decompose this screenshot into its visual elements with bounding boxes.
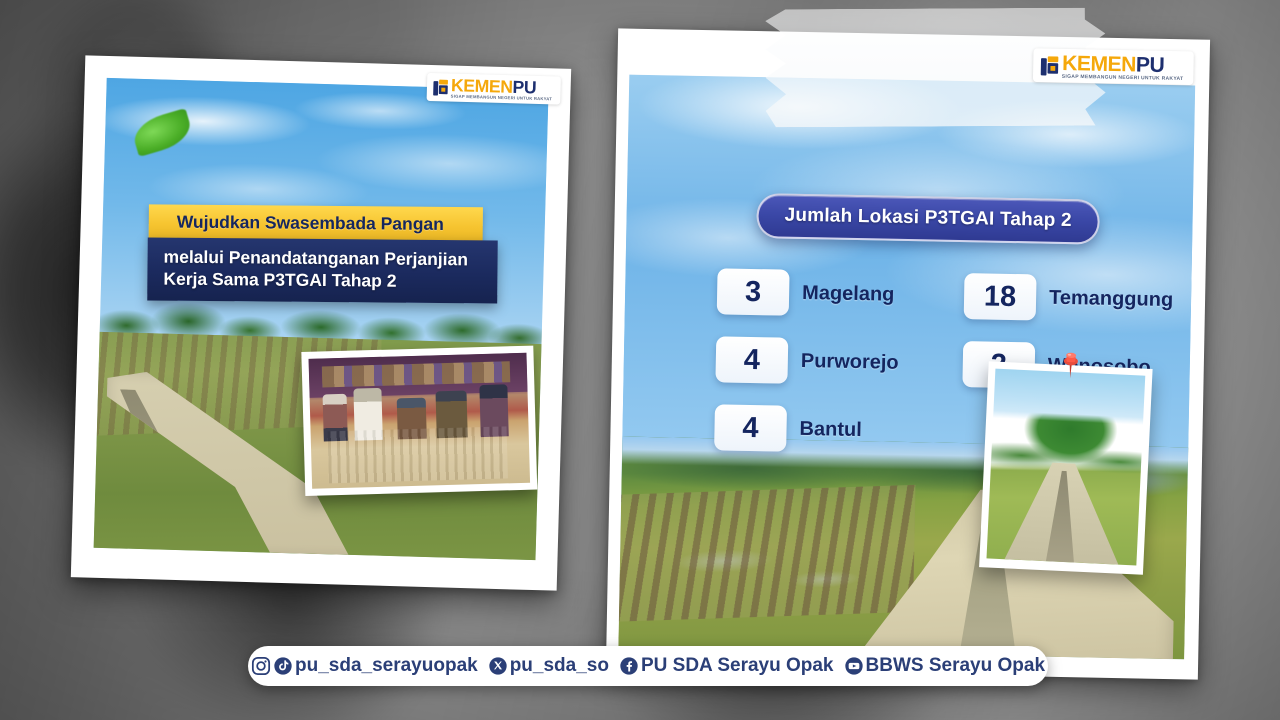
pinned-photo-card bbox=[979, 361, 1153, 574]
stat-value: 4 bbox=[714, 404, 787, 451]
stat-label: Magelang bbox=[802, 281, 895, 306]
headline-navy-line2: Kerja Sama P3TGAI Tahap 2 bbox=[163, 268, 481, 293]
right-card-artwork: Jumlah Lokasi P3TGAI Tahap 2 3 Magelang … bbox=[618, 75, 1195, 660]
social-handle[interactable]: PU SDA Serayu Opak bbox=[641, 655, 834, 677]
social-item-x[interactable]: pu_sda_so bbox=[483, 655, 614, 677]
social-handle[interactable]: pu_sda_serayuopak bbox=[295, 655, 478, 677]
social-item-instagram-tiktok[interactable]: pu_sda_serayuopak bbox=[246, 655, 483, 677]
stat-label: Purworejo bbox=[801, 349, 899, 374]
headline-navy-banner: melalui Penandatanganan Perjanjian Kerja… bbox=[147, 237, 498, 303]
poster-canvas: Jumlah Lokasi P3TGAI Tahap 2 3 Magelang … bbox=[0, 0, 1280, 720]
kemenpu-logo: KEMENPU SIGAP MEMBANGUN NEGERI UNTUK RAK… bbox=[427, 73, 561, 105]
logo-tagline: SIGAP MEMBANGUN NEGERI UNTUK RAKYAT bbox=[451, 95, 552, 102]
logo-pu-text: PU bbox=[513, 77, 537, 98]
kemenpu-mark-icon bbox=[433, 80, 448, 96]
x-twitter-icon[interactable] bbox=[488, 656, 508, 676]
left-card-artwork: Wujudkan Swasembada Pangan melalui Penan… bbox=[94, 78, 549, 560]
stat-label: Bantul bbox=[799, 417, 862, 441]
kemenpu-mark-icon bbox=[1041, 56, 1059, 76]
tiktok-icon[interactable] bbox=[273, 656, 293, 676]
kemenpu-logo: KEMENPU SIGAP MEMBANGUN NEGERI UNTUK RAK… bbox=[1033, 48, 1194, 85]
logo-kemen-text: KEMEN bbox=[1062, 51, 1136, 76]
instagram-icon[interactable] bbox=[251, 656, 271, 676]
signing-table bbox=[328, 426, 508, 483]
stat-item: 3 Magelang bbox=[717, 268, 951, 318]
stat-item: 18 Temanggung bbox=[964, 273, 1196, 323]
stat-value: 3 bbox=[717, 268, 790, 315]
stat-label: Temanggung bbox=[1049, 286, 1173, 311]
logo-kemen-text: KEMEN bbox=[451, 75, 513, 97]
stat-item: 4 Bantul bbox=[714, 404, 948, 454]
social-item-youtube[interactable]: BBWS Serayu Opak bbox=[839, 655, 1051, 677]
headline-navy-line1: melalui Penandatanganan Perjanjian bbox=[163, 246, 481, 271]
stat-value: 18 bbox=[964, 273, 1037, 320]
signing-ceremony-photo-card bbox=[301, 346, 537, 496]
red-pushpin-icon bbox=[1060, 352, 1081, 379]
signing-ceremony-image bbox=[309, 353, 531, 489]
canal-ditch bbox=[1040, 470, 1083, 563]
canal-photo-image bbox=[986, 369, 1145, 566]
social-item-facebook[interactable]: PU SDA Serayu Opak bbox=[614, 655, 839, 677]
stat-value: 4 bbox=[715, 336, 788, 383]
social-media-bar: pu_sda_serayuopak pu_sda_so PU SDA Seray… bbox=[248, 646, 1048, 686]
left-poster-card: Wujudkan Swasembada Pangan melalui Penan… bbox=[71, 55, 571, 590]
logo-pu-text: PU bbox=[1136, 52, 1165, 77]
right-card-title: Jumlah Lokasi P3TGAI Tahap 2 bbox=[756, 193, 1100, 245]
social-handle[interactable]: pu_sda_so bbox=[510, 655, 609, 677]
facebook-icon[interactable] bbox=[619, 656, 639, 676]
right-poster-card: Jumlah Lokasi P3TGAI Tahap 2 3 Magelang … bbox=[606, 28, 1210, 679]
social-handle[interactable]: BBWS Serayu Opak bbox=[866, 655, 1046, 677]
headline-banner-group: Wujudkan Swasembada Pangan melalui Penan… bbox=[147, 201, 530, 307]
youtube-icon[interactable] bbox=[844, 656, 864, 676]
stat-item: 4 Purworejo bbox=[715, 336, 949, 386]
logo-tagline: SIGAP MEMBANGUN NEGERI UNTUK RAKYAT bbox=[1062, 75, 1184, 82]
